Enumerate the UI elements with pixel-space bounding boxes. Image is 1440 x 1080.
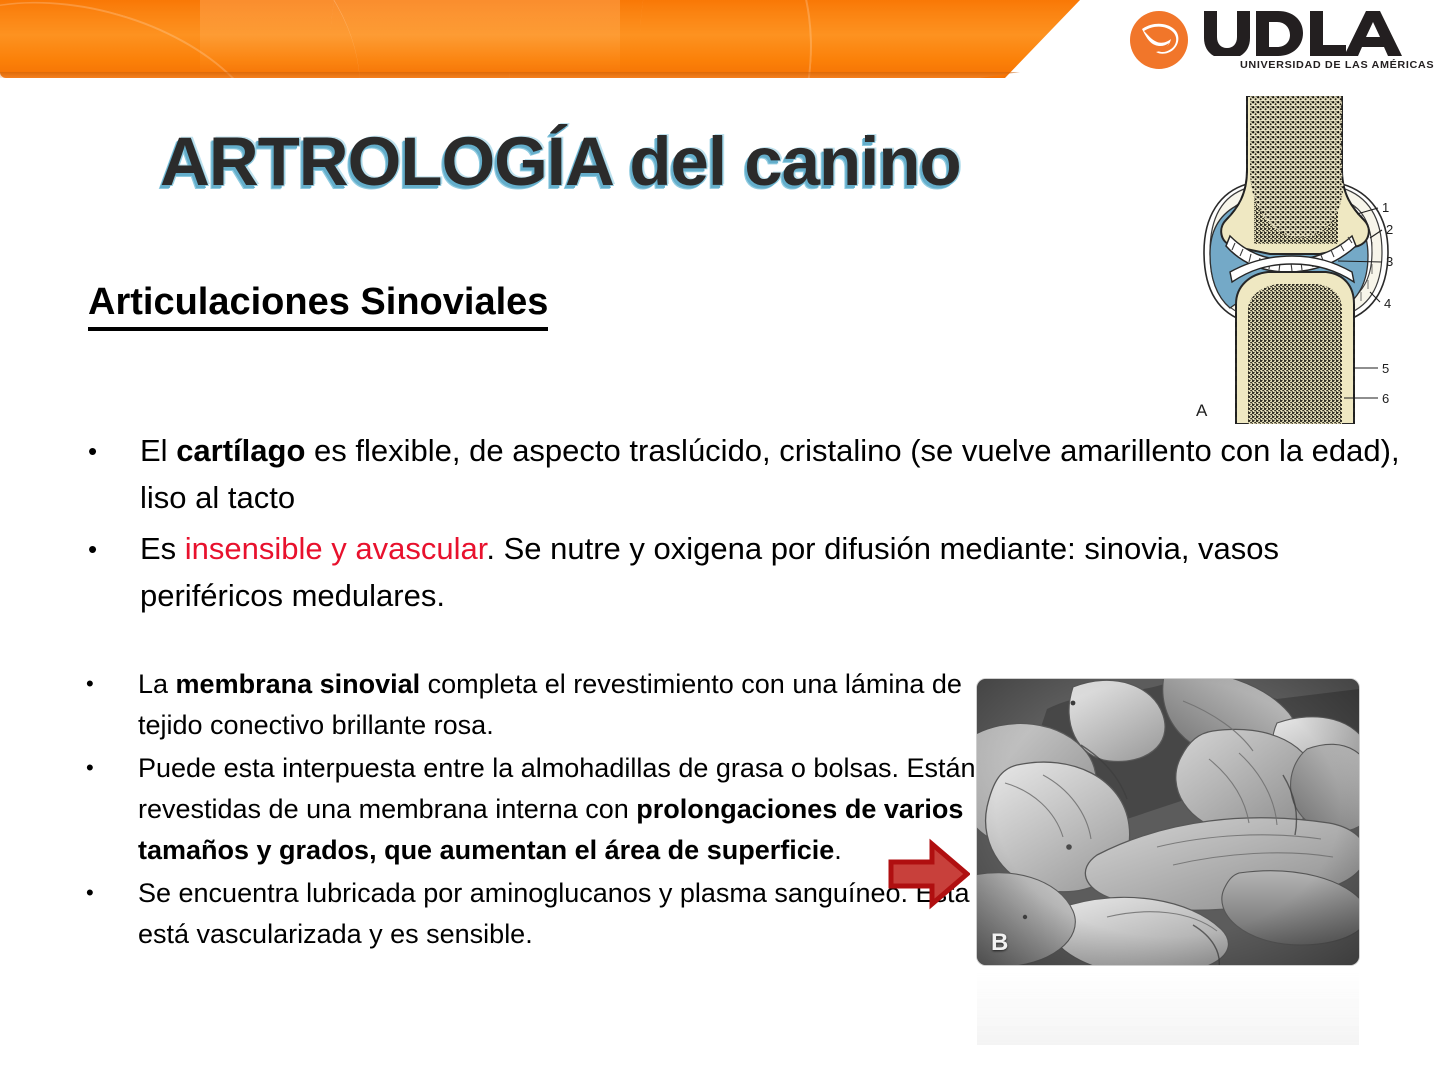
bullet-marker-icon: • <box>78 664 138 695</box>
bullet-bottom-item: •La membrana sinovial completa el revest… <box>78 664 978 746</box>
figure-micrograph-reflection: B <box>977 967 1359 1045</box>
bone-callout-2: 2 <box>1386 222 1393 237</box>
header-banner <box>0 0 1080 78</box>
bone-callout-6: 6 <box>1382 391 1389 406</box>
bullet-marker-icon: • <box>78 525 140 562</box>
bullet-top-item: •El cartílago es flexible, de aspecto tr… <box>78 427 1428 521</box>
micrograph-image <box>977 679 1359 965</box>
udla-logo: UNIVERSIDAD DE LAS AMÉRICAS <box>1128 8 1418 76</box>
red-arrow-icon <box>888 838 970 910</box>
udla-wordmark <box>1202 9 1418 56</box>
banner-swirl-4 <box>631 0 1080 78</box>
bullet-bottom-item: •Puede esta interpuesta entre la almohad… <box>78 748 978 871</box>
banner-highlight <box>200 0 620 78</box>
bullet-list-bottom: •La membrana sinovial completa el revest… <box>78 664 978 957</box>
udla-tagline: UNIVERSIDAD DE LAS AMÉRICAS <box>1240 59 1423 71</box>
figure-micrograph: B <box>977 679 1359 965</box>
bullet-top-text: El cartílago es flexible, de aspecto tra… <box>140 427 1428 521</box>
bullet-list-top: •El cartílago es flexible, de aspecto tr… <box>78 427 1428 623</box>
bullet-top-text: Es insensible y avascular. Se nutre y ox… <box>140 525 1428 619</box>
micrograph-reflection-image: B <box>977 967 1359 1045</box>
figure-b-label: B <box>991 929 1008 957</box>
bone-callout-1: 1 <box>1382 200 1389 215</box>
banner-edge-line <box>0 72 1020 78</box>
bullet-bottom-text: Se encuentra lubricada por aminoglucanos… <box>138 873 978 955</box>
figure-a-label: A <box>1196 401 1208 420</box>
bullet-marker-icon: • <box>78 873 138 904</box>
banner-shape <box>0 0 1080 78</box>
bullet-top-item: •Es insensible y avascular. Se nutre y o… <box>78 525 1428 619</box>
figure-synovial-joint-diagram: 1 2 3 4 5 6 A <box>1192 96 1406 424</box>
bone-callout-3: 3 <box>1386 254 1393 269</box>
bullet-bottom-text: Puede esta interpuesta entre la almohadi… <box>138 748 978 871</box>
section-heading: Articulaciones Sinoviales <box>88 279 548 331</box>
bone-callout-4: 4 <box>1384 296 1391 311</box>
bone-callout-5: 5 <box>1382 361 1389 376</box>
udla-logo-mark-icon <box>1128 10 1190 70</box>
bullet-marker-icon: • <box>78 427 140 464</box>
bullet-marker-icon: • <box>78 748 138 779</box>
bullet-bottom-item: •Se encuentra lubricada por aminoglucano… <box>78 873 978 955</box>
page-title: ARTROLOGÍA del canino <box>160 123 961 201</box>
bullet-bottom-text: La membrana sinovial completa el revesti… <box>138 664 978 746</box>
